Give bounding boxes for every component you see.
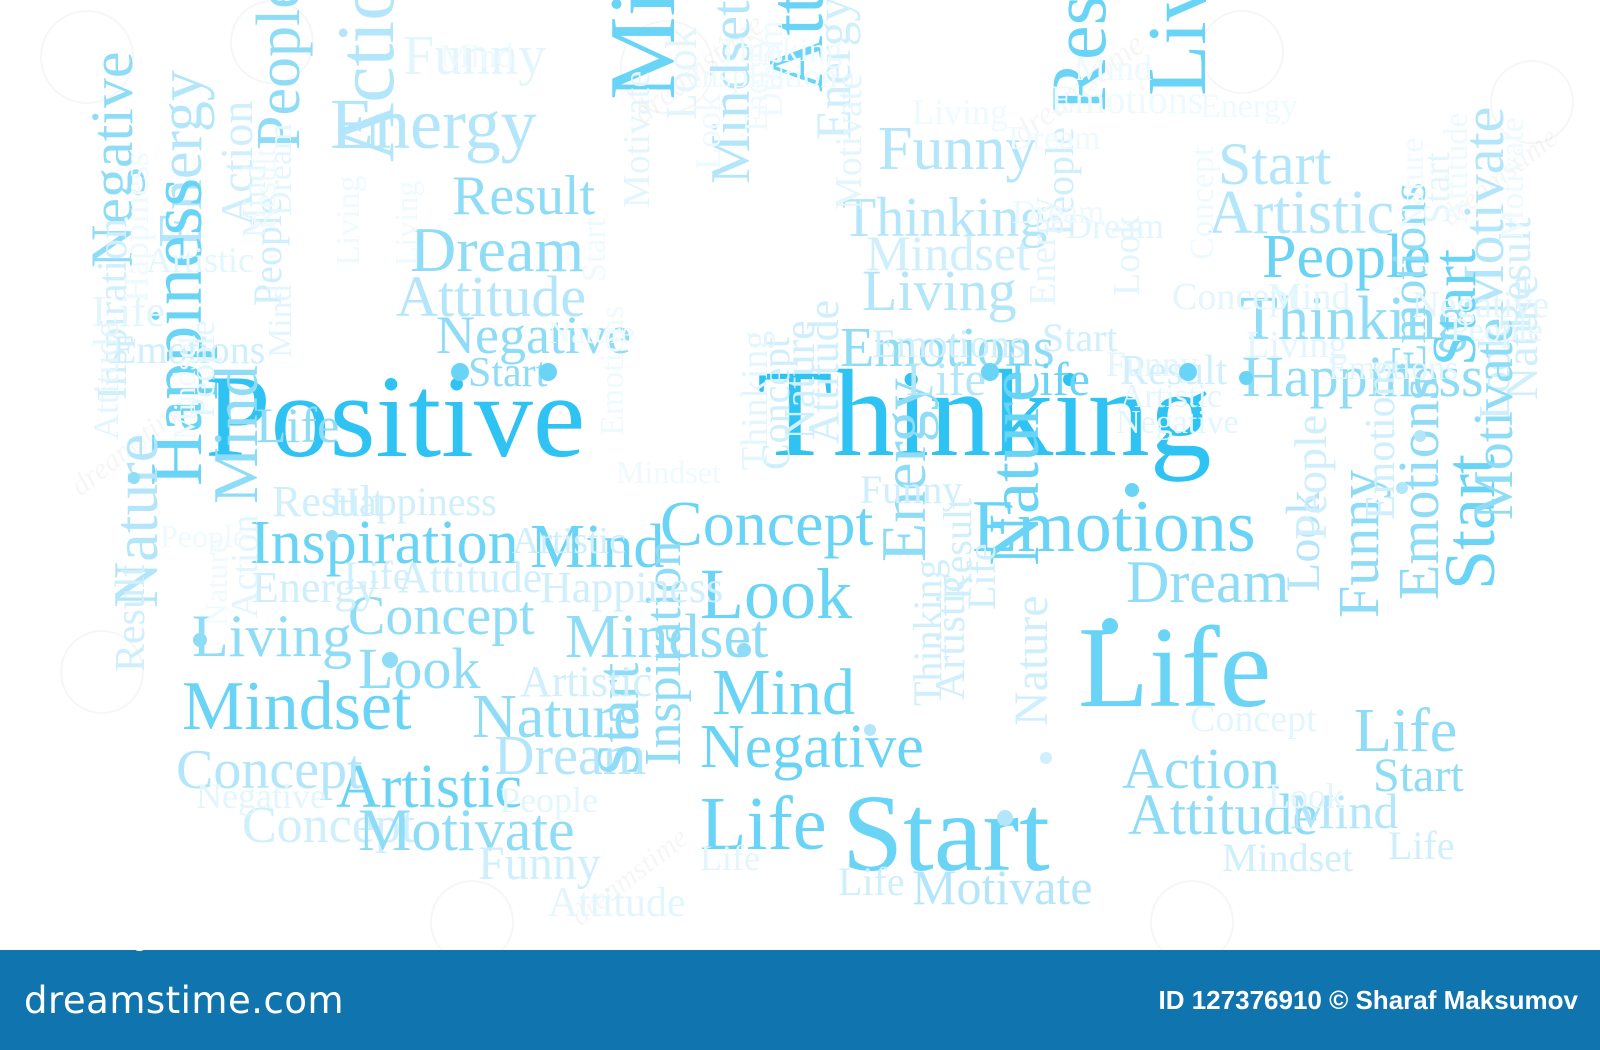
wordcloud-dot bbox=[128, 472, 140, 484]
wordcloud-word: Start bbox=[578, 218, 612, 282]
wordcloud-word: Negative bbox=[1116, 406, 1239, 440]
wordcloud-word: Action bbox=[325, 0, 407, 162]
wordcloud-word: Artistic bbox=[146, 242, 254, 278]
wordcloud-dot bbox=[864, 724, 876, 736]
wordcloud-word: Mind bbox=[440, 40, 514, 74]
dreamstime-logo[interactable]: dreamstime.com bbox=[24, 982, 344, 1019]
wordcloud-dot bbox=[382, 652, 398, 668]
wordcloud-dot bbox=[1414, 430, 1426, 442]
wordcloud-dot bbox=[1396, 482, 1408, 494]
wordcloud-dot bbox=[1102, 618, 1118, 634]
wordcloud-word: Life bbox=[700, 840, 760, 876]
wordcloud-word: Emotions bbox=[872, 324, 1025, 364]
wordcloud-word: People bbox=[1450, 314, 1543, 348]
wordcloud-word: Attitude bbox=[1440, 113, 1474, 224]
wordcloud-dot bbox=[193, 633, 207, 647]
wordcloud-word: Nature bbox=[1396, 137, 1430, 230]
wordcloud-word: Mind bbox=[1268, 278, 1350, 316]
watermark-spiral-icon bbox=[430, 880, 514, 950]
wordcloud-word: Life bbox=[256, 400, 339, 450]
wordcloud-word: Concept bbox=[1190, 700, 1317, 738]
wordcloud-word: Energy bbox=[1200, 90, 1298, 124]
wordcloud-word: Motivate bbox=[618, 71, 656, 208]
wordcloud-word: People bbox=[1288, 415, 1334, 540]
wordcloud-dot bbox=[997, 810, 1013, 826]
wordcloud-word: Emotions bbox=[1328, 352, 1458, 386]
wordcloud-word: Attitude bbox=[548, 882, 686, 924]
wordcloud-dot bbox=[451, 363, 469, 381]
wordcloud-dot bbox=[1040, 752, 1052, 764]
wordcloud-word: Attitude bbox=[802, 300, 846, 444]
wordcloud-dot bbox=[1239, 371, 1253, 385]
wordcloud-word: People bbox=[500, 782, 598, 818]
wordcloud-word: Dream bbox=[1012, 196, 1105, 230]
wordcloud-dot bbox=[1179, 363, 1197, 381]
wordcloud-word: Mindset bbox=[182, 672, 411, 742]
wordcloud-word: Happiness bbox=[540, 566, 723, 610]
wordcloud-word: Mindset bbox=[168, 335, 200, 440]
wordcloud-word: Emotions bbox=[1050, 80, 1203, 120]
wordcloud-dot bbox=[981, 363, 999, 381]
wordcloud-canvas: dreamstime dreamstime dreamstime dreamst… bbox=[0, 0, 1600, 950]
wordcloud-word: Happiness bbox=[330, 482, 497, 522]
wordcloud-word: Dream bbox=[752, 20, 788, 118]
wordcloud-dot bbox=[737, 643, 751, 657]
wordcloud-dot bbox=[326, 530, 338, 542]
wordcloud-word: Funny bbox=[860, 470, 962, 510]
wordcloud-word: Living bbox=[862, 262, 1017, 320]
wordcloud-word: Look bbox=[690, 94, 726, 170]
wordcloud-word: Motivate bbox=[912, 862, 1093, 912]
wordcloud-word: Negative bbox=[700, 716, 924, 778]
wordcloud-word: Motivate bbox=[830, 73, 868, 210]
wordcloud-word: Dream bbox=[1126, 552, 1289, 612]
wordcloud-word: Mind bbox=[264, 284, 298, 358]
wordcloud-word: Result bbox=[248, 148, 280, 230]
wordcloud-word: Living bbox=[390, 181, 422, 266]
wordcloud-word: Living bbox=[912, 94, 1008, 130]
wordcloud-word: Result bbox=[110, 565, 152, 672]
wordcloud-word: Thinking bbox=[736, 331, 774, 470]
wordcloud-word: Concept bbox=[1186, 147, 1220, 260]
wordcloud-dot bbox=[539, 363, 557, 381]
wordcloud-word: Mindset bbox=[616, 456, 721, 488]
wordcloud-word: Artistic bbox=[512, 522, 626, 560]
wordcloud-word: Emotions bbox=[596, 306, 630, 436]
wordcloud-word: Happiness bbox=[118, 152, 154, 302]
wordcloud-image: dreamstime dreamstime dreamstime dreamst… bbox=[0, 0, 1600, 1050]
wordcloud-word: Life bbox=[962, 543, 1002, 610]
wordcloud-word: Look bbox=[1108, 216, 1146, 296]
wordcloud-word: Living bbox=[332, 175, 366, 266]
wordcloud-word: Motivate bbox=[1496, 117, 1530, 240]
wordcloud-dot bbox=[1125, 483, 1139, 497]
wordcloud-word: Negative bbox=[196, 778, 326, 814]
wordcloud-word: Nature bbox=[1008, 595, 1056, 726]
footer-bar: dreamstime.com ID 127376910 © Sharaf Mak… bbox=[0, 950, 1600, 1050]
wordcloud-word: Life bbox=[1388, 826, 1455, 866]
wordcloud-word: Start bbox=[468, 352, 547, 394]
wordcloud-word: Attitude bbox=[398, 556, 542, 600]
dreamstime-logo-text: dreamstime.com bbox=[24, 982, 344, 1019]
wordcloud-word: Look bbox=[1268, 778, 1344, 814]
spiral-logo-icon bbox=[131, 934, 148, 951]
watermark-spiral-icon bbox=[1150, 880, 1234, 950]
wordcloud-word: People bbox=[160, 520, 247, 552]
wordcloud-word: Attitude bbox=[88, 322, 124, 440]
wordcloud-word: Dream bbox=[1008, 122, 1101, 156]
wordcloud-word: Life bbox=[838, 862, 905, 902]
image-credit: ID 127376910 © Sharaf Maksumov bbox=[1159, 985, 1579, 1016]
wordcloud-word: Artistic bbox=[520, 660, 652, 704]
wordcloud-word: Mindset bbox=[1222, 838, 1353, 878]
